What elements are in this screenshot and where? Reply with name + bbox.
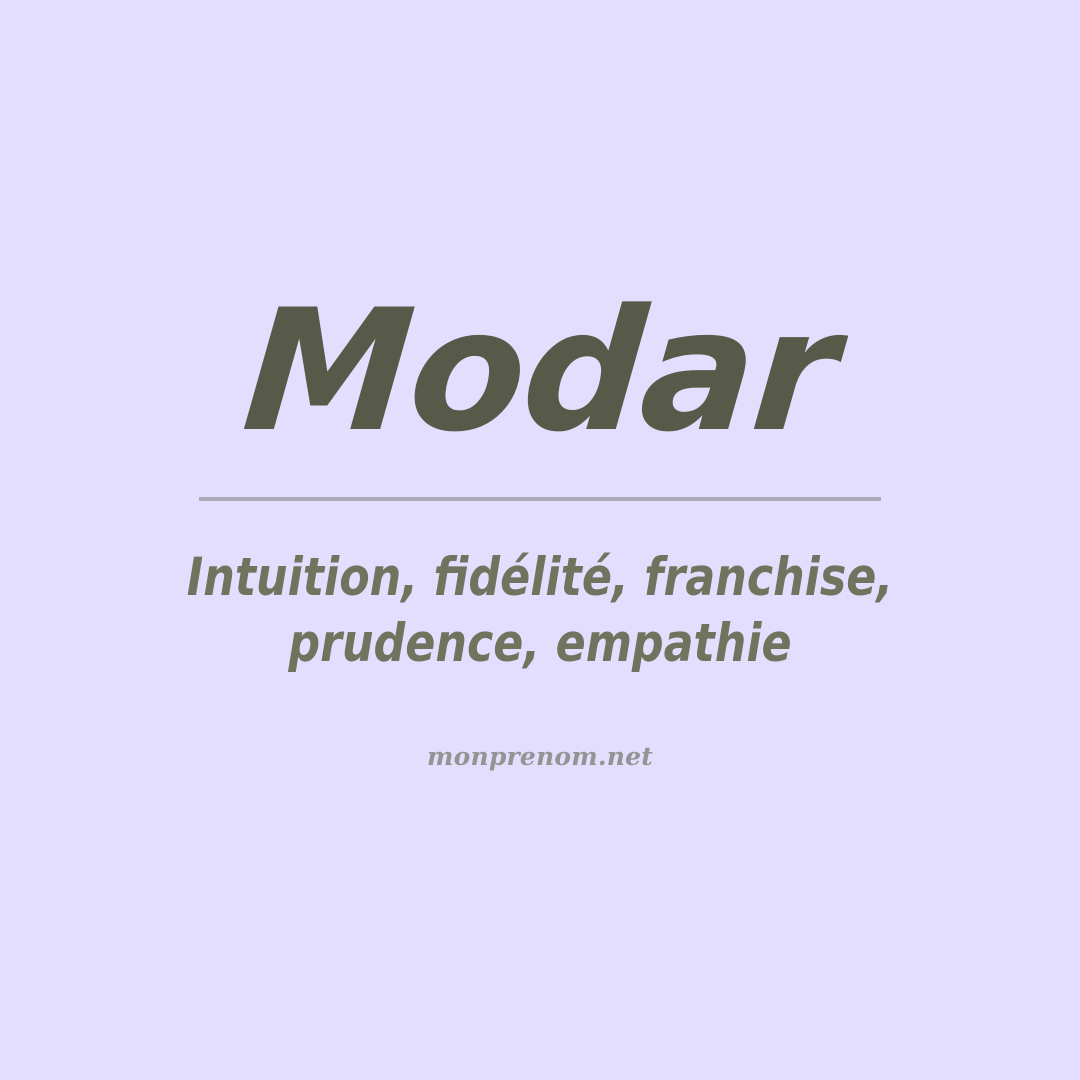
- qualities-text: Intuition, fidélité, franchise, prudence…: [38, 545, 1042, 677]
- divider-line: [199, 497, 881, 501]
- name-meaning-card: Modar Intuition, fidélité, franchise, pr…: [0, 0, 1080, 1080]
- site-credit: monprenom.net: [0, 741, 1080, 773]
- qualities-line-1: Intuition, fidélité, franchise,: [38, 545, 1042, 611]
- page-title: Modar: [0, 287, 1080, 455]
- qualities-line-2: prudence, empathie: [38, 611, 1042, 677]
- divider: [0, 497, 1080, 501]
